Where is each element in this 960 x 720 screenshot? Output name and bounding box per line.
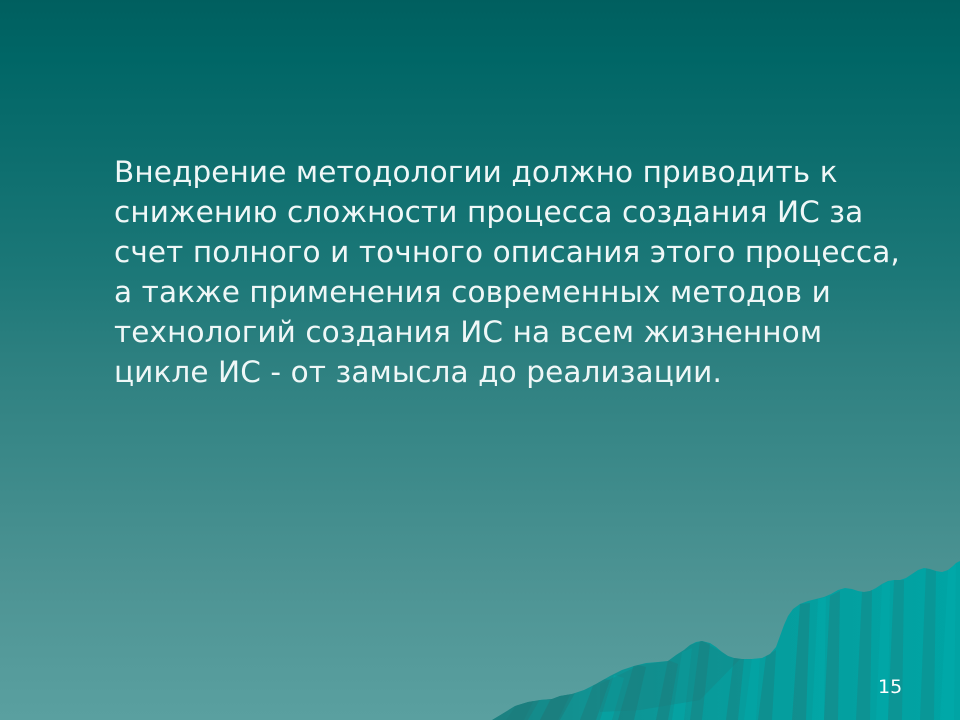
slide-body-text: Внедрение методологии должно приводить к… bbox=[114, 152, 914, 392]
slide-number: 15 bbox=[878, 676, 918, 698]
slide-canvas: Внедрение методологии должно приводить к… bbox=[0, 0, 960, 720]
